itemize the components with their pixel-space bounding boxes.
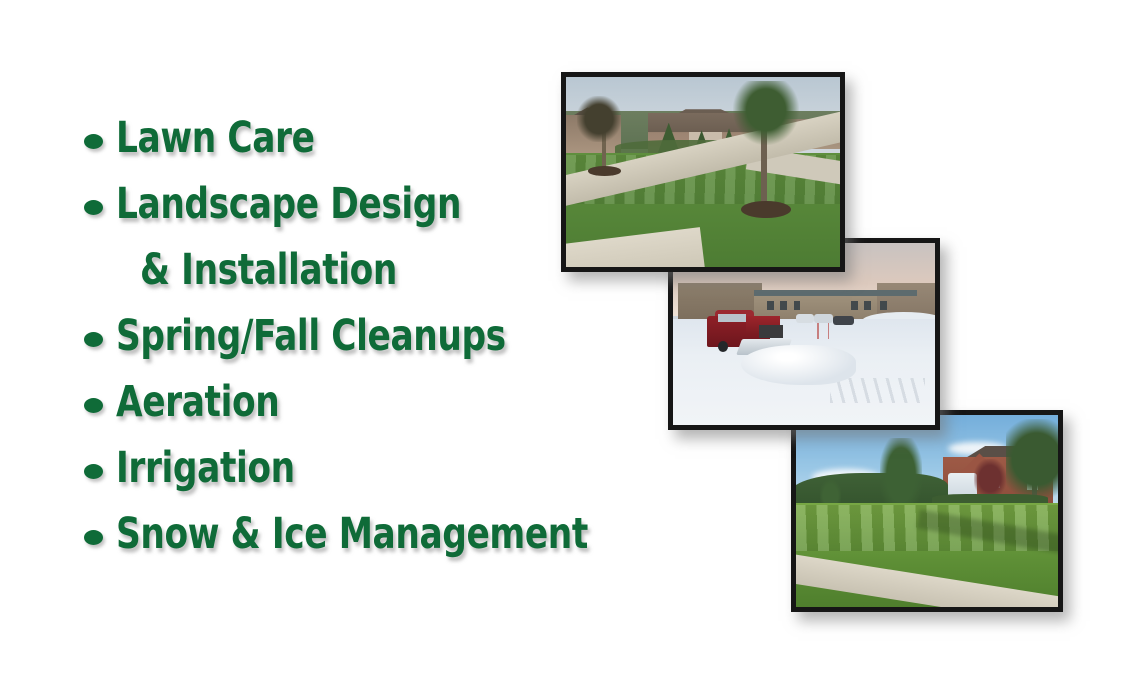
window <box>780 301 787 310</box>
service-label: & Installation <box>140 244 397 296</box>
window <box>864 301 871 310</box>
parked-car <box>796 314 814 323</box>
list-item: Snow & Ice Management <box>84 508 644 574</box>
shade-tree <box>733 81 799 146</box>
ornamental-tree <box>577 96 621 142</box>
photo-scene <box>566 77 840 267</box>
photo-scene <box>796 415 1058 607</box>
mulch-ring <box>741 201 790 218</box>
bullet-icon <box>84 332 103 347</box>
bullet-icon <box>84 398 103 413</box>
pushed-snow-pile <box>741 345 856 385</box>
service-label: Landscape Design <box>116 178 461 230</box>
truck-wheel <box>718 341 728 352</box>
truck-grille <box>759 325 783 338</box>
window <box>880 301 887 310</box>
photo-lawn-front <box>561 72 845 272</box>
page-canvas: Lawn Care Landscape Design & Installatio… <box>0 0 1137 682</box>
list-item-continuation: & Installation <box>84 244 644 310</box>
service-label: Irrigation <box>116 442 295 494</box>
roof-eave <box>754 290 916 295</box>
parked-car <box>833 316 854 325</box>
service-label: Lawn Care <box>116 112 315 164</box>
window <box>794 301 801 310</box>
list-item: Spring/Fall Cleanups <box>84 310 644 376</box>
photo-lawn-stripes <box>791 410 1063 612</box>
window <box>851 301 858 310</box>
list-item: Lawn Care <box>84 112 644 178</box>
marker-post <box>828 323 830 339</box>
window <box>767 301 774 310</box>
truck-window <box>718 314 747 322</box>
bullet-icon <box>84 200 103 215</box>
snow-tracks <box>830 378 924 403</box>
japanese-maple <box>974 459 1005 497</box>
shade-tree <box>1006 419 1058 500</box>
mulch-ring <box>588 166 621 176</box>
service-label: Spring/Fall Cleanups <box>116 310 506 362</box>
services-list: Lawn Care Landscape Design & Installatio… <box>84 112 644 574</box>
bullet-icon <box>84 464 103 479</box>
list-item: Aeration <box>84 376 644 442</box>
bullet-icon <box>84 134 103 149</box>
parked-car <box>814 314 832 323</box>
service-label: Snow & Ice Management <box>116 508 588 560</box>
marker-post <box>817 323 819 339</box>
list-item: Landscape Design <box>84 178 644 244</box>
service-label: Aeration <box>116 376 279 428</box>
bullet-icon <box>84 530 103 545</box>
list-item: Irrigation <box>84 442 644 508</box>
